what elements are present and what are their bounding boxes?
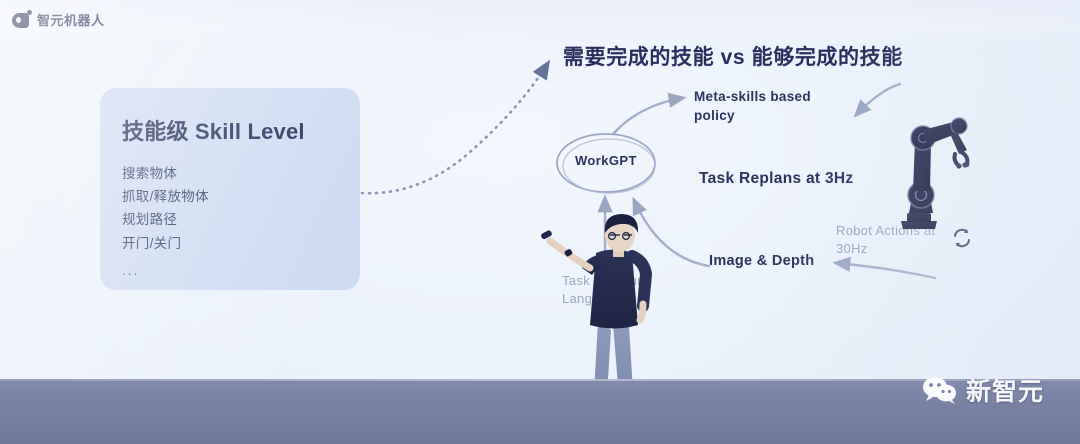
list-item: 搜索物体 (122, 162, 360, 185)
stage-floor-edge (0, 379, 1080, 381)
image-depth-label: Image & Depth (709, 252, 814, 271)
skill-card-title: 技能级 Skill Level (122, 114, 360, 146)
slide-top-strip (0, 0, 1080, 42)
task-natural-language-label: Task in Natural Language (562, 272, 672, 308)
meta-skills-label: Meta-skills based policy (694, 88, 824, 125)
stage-floor (0, 379, 1080, 444)
list-item: 抓取/释放物体 (122, 185, 360, 208)
agibot-logo-icon (12, 11, 31, 28)
task-replans-label: Task Replans at 3Hz (699, 170, 853, 188)
skill-card-ellipsis: ... (122, 263, 360, 278)
wechat-icon (921, 375, 959, 405)
list-item: 规划路径 (122, 208, 360, 231)
robot-arm-icon (885, 105, 990, 235)
skill-level-card: 技能级 Skill Level 搜索物体 抓取/释放物体 规划路径 开门/关门 … (100, 88, 360, 290)
list-item: 开门/关门 (122, 232, 360, 255)
watermark-text: 新智元 (966, 372, 1044, 408)
slide-presentation-screenshot: 智元机器人 技能级 Skill Level 搜索物体 抓取/释放物体 规划路径 … (0, 0, 1080, 444)
page-title: 需要完成的技能 vs 能够完成的技能 (563, 41, 903, 71)
brand-logo: 智元机器人 (12, 10, 105, 29)
brand-name: 智元机器人 (37, 10, 105, 29)
watermark: 新智元 (921, 372, 1044, 408)
skill-card-list: 搜索物体 抓取/释放物体 规划路径 开门/关门 (122, 162, 360, 255)
workgpt-node-label: WorkGPT (575, 153, 637, 168)
